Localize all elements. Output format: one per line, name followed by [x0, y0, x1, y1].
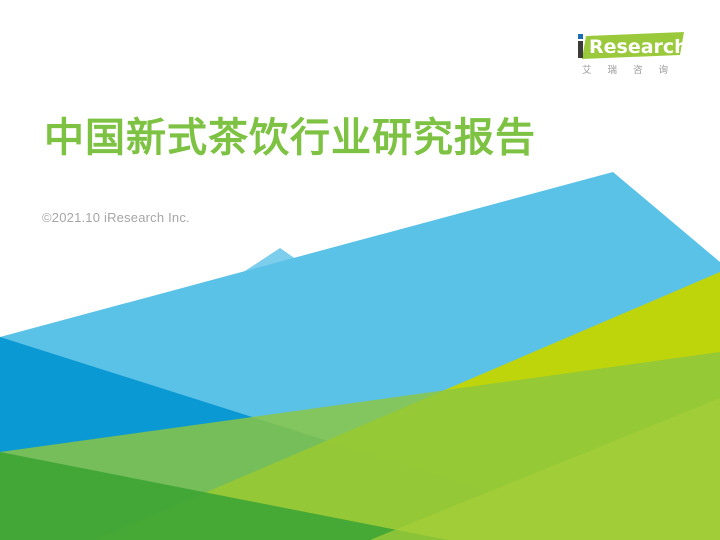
logo-i-dot-icon — [578, 34, 583, 39]
logo-research-text: Research — [589, 36, 684, 58]
report-cover-page: Research 艾 瑞 咨 询 中国新式茶饮行业研究报告 ©2021.10 i… — [0, 0, 720, 540]
logo-i-stem — [578, 41, 583, 58]
logo-wordmark: Research — [566, 32, 684, 62]
logo-chinese-subtitle: 艾 瑞 咨 询 — [566, 65, 684, 77]
background-artwork — [0, 0, 720, 540]
logo-wordmark-svg: Research — [566, 32, 684, 62]
copyright-text: ©2021.10 iResearch Inc. — [42, 210, 190, 225]
page-title: 中国新式茶饮行业研究报告 — [44, 113, 536, 163]
iresearch-logo: Research 艾 瑞 咨 询 — [566, 32, 684, 77]
